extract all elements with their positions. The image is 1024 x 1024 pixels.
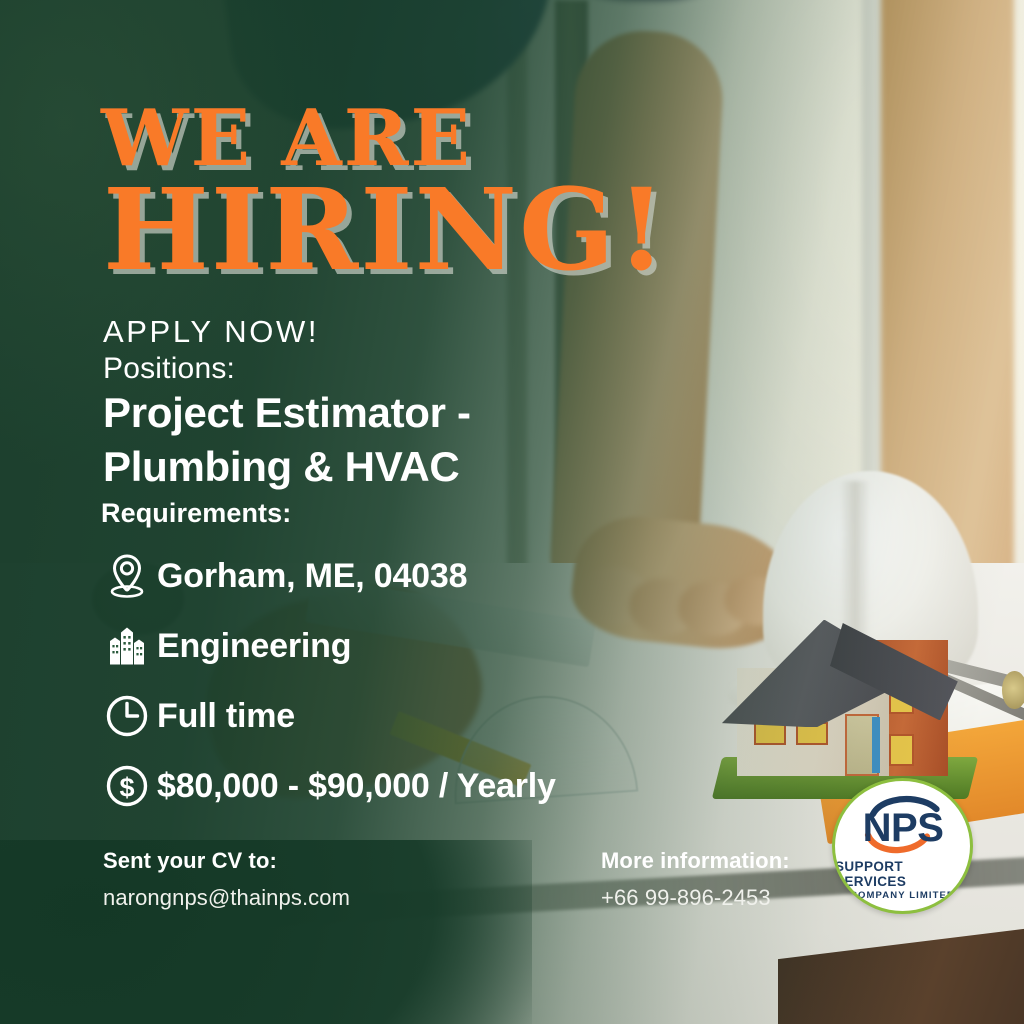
- logo-mark: NPS: [847, 795, 959, 857]
- detail-text-department: Engineering: [157, 627, 351, 666]
- cv-contact-block: Sent your CV to: narongnps@thainps.com: [103, 848, 350, 911]
- svg-text:$: $: [119, 773, 134, 803]
- detail-text-location: Gorham, ME, 04038: [157, 557, 467, 596]
- info-phone[interactable]: +66 99-896-2453: [601, 885, 790, 911]
- job-detail-list: Gorham, ME, 04038: [101, 545, 741, 825]
- info-contact-block: More information: +66 99-896-2453: [601, 848, 790, 911]
- detail-row-salary: $ $80,000 - $90,000 / Yearly: [101, 755, 741, 817]
- info-label: More information:: [601, 848, 790, 874]
- headline-line-1: WE ARE: [101, 103, 668, 175]
- headline: WE ARE HIRING!: [101, 103, 668, 282]
- buildings-icon: [101, 620, 153, 672]
- detail-row-location: Gorham, ME, 04038: [101, 545, 741, 607]
- apply-now-text: APPLY NOW!: [103, 314, 319, 350]
- location-pin-icon: [101, 550, 153, 602]
- logo-text: NPS: [862, 806, 943, 850]
- logo-subtitle-2: COMPANY LIMITED: [850, 890, 955, 901]
- detail-text-salary: $80,000 - $90,000 / Yearly: [157, 767, 556, 806]
- hiring-poster: WE ARE HIRING! APPLY NOW! Positions: Pro…: [0, 0, 1024, 1024]
- headline-line-2: HIRING!: [103, 179, 668, 282]
- logo-subtitle-1: SUPPORT SERVICES: [835, 859, 970, 889]
- cv-email[interactable]: narongnps@thainps.com: [103, 885, 350, 911]
- requirements-label: Requirements:: [101, 498, 291, 529]
- clock-icon: [101, 690, 153, 742]
- detail-row-department: Engineering: [101, 615, 741, 677]
- job-title: Project Estimator - Plumbing & HVAC: [103, 386, 623, 494]
- detail-text-employment-type: Full time: [157, 697, 295, 736]
- dollar-circle-icon: $: [101, 760, 153, 812]
- positions-label: Positions:: [103, 352, 235, 386]
- nps-logo: NPS SUPPORT SERVICES COMPANY LIMITED: [832, 778, 973, 914]
- cv-label: Sent your CV to:: [103, 848, 350, 874]
- detail-row-employment-type: Full time: [101, 685, 741, 747]
- poster-content: WE ARE HIRING! APPLY NOW! Positions: Pro…: [0, 0, 1024, 1024]
